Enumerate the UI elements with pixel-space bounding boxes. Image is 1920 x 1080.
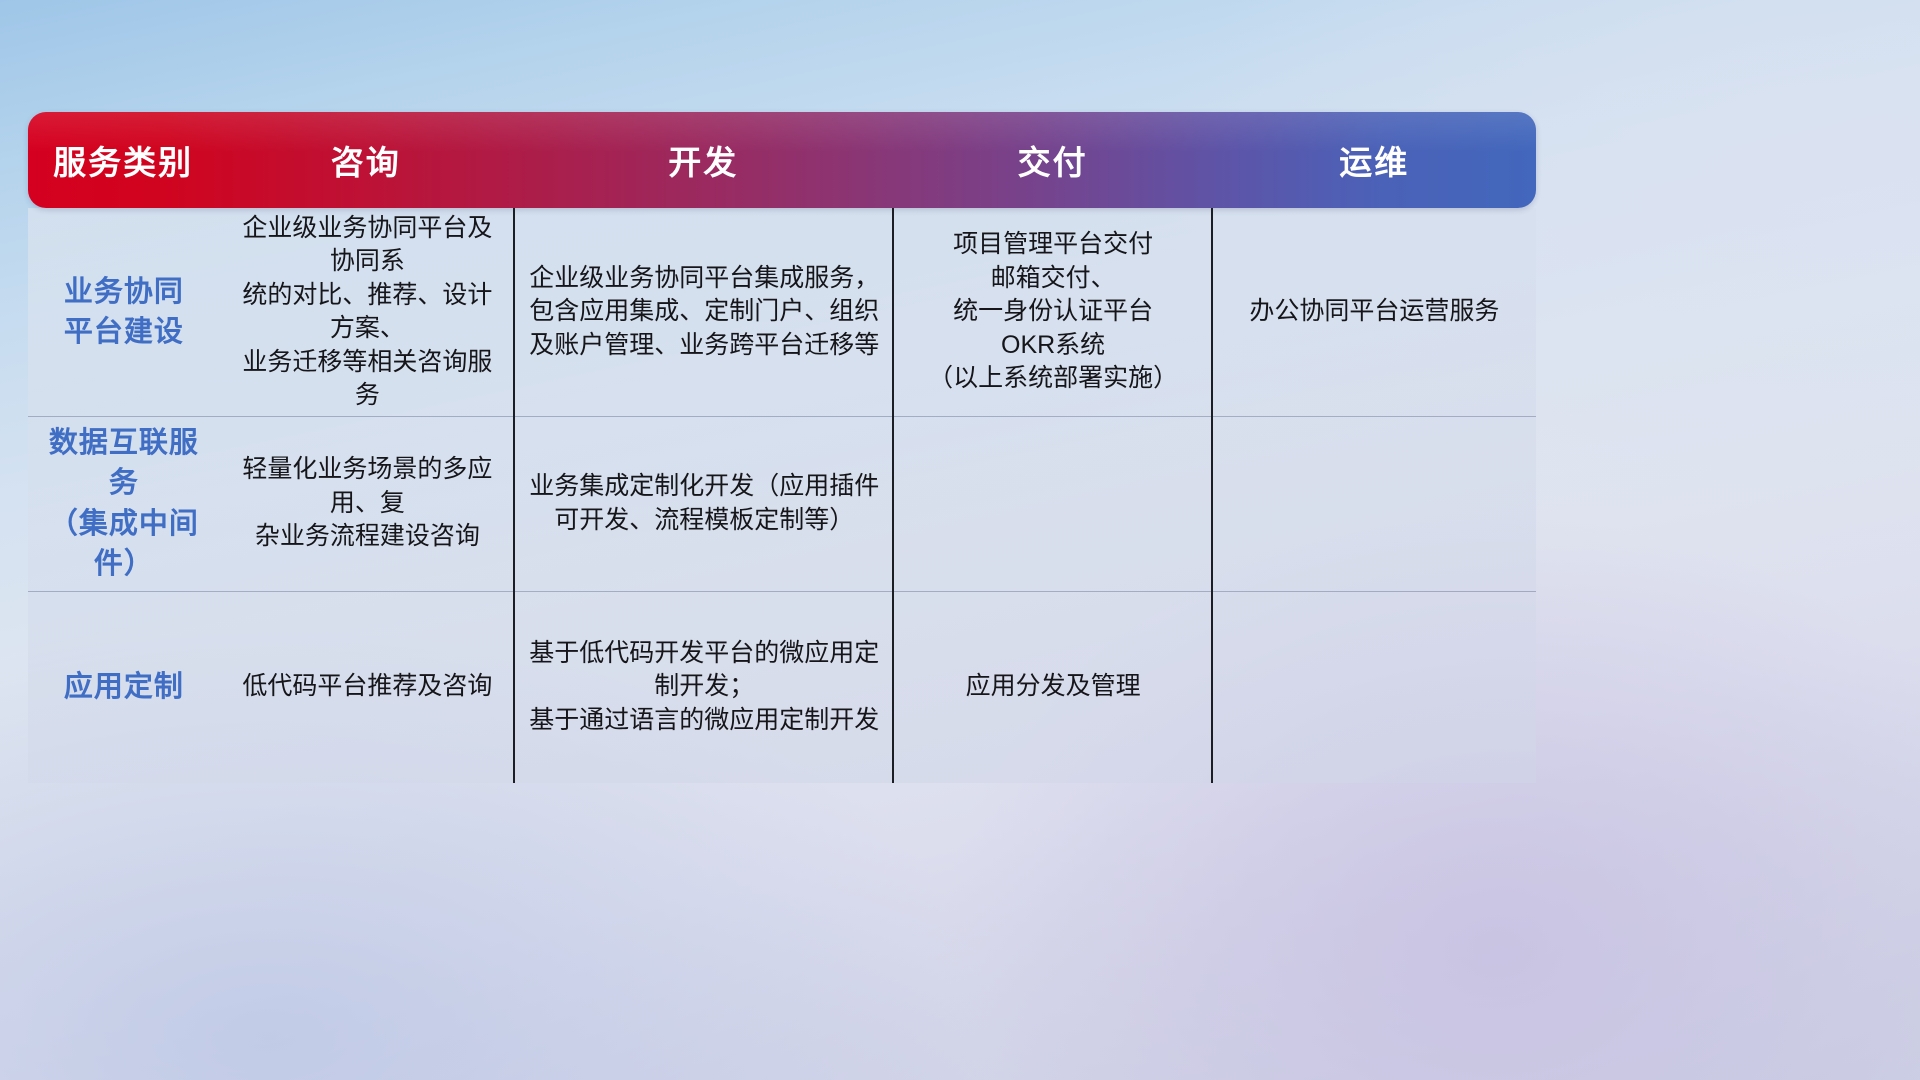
cell-text: 项目管理平台交付 邮箱交付、 统一身份认证平台 OKR系统 （以上系统部署实施） <box>928 228 1178 396</box>
cell-delivery <box>894 416 1213 591</box>
cell-operations: 办公协同平台运营服务 <box>1213 208 1536 416</box>
cell-delivery: 应用分发及管理 <box>894 591 1213 783</box>
row-category-label: 数据互联服务 （集成中间件） <box>40 423 208 583</box>
cell-text: 业务集成定制化开发（应用插件 可开发、流程模板定制等） <box>529 470 879 537</box>
column-header-category: 服务类别 <box>28 136 218 184</box>
row-category-cell: 应用定制 <box>28 591 220 783</box>
row-category-cell: 数据互联服务 （集成中间件） <box>28 416 220 591</box>
cell-development: 业务集成定制化开发（应用插件 可开发、流程模板定制等） <box>515 416 893 591</box>
cell-consulting: 低代码平台推荐及咨询 <box>220 591 515 783</box>
column-header-delivery: 交付 <box>893 136 1212 184</box>
column-header-development: 开发 <box>513 136 893 184</box>
row-category-cell: 业务协同 平台建设 <box>28 208 220 416</box>
cell-consulting: 轻量化业务场景的多应用、复 杂业务流程建设咨询 <box>220 416 515 591</box>
table-body: 业务协同 平台建设 企业级业务协同平台及协同系 统的对比、推荐、设计方案、 业务… <box>28 208 1536 783</box>
cell-text: 轻量化业务场景的多应用、复 杂业务流程建设咨询 <box>232 453 503 554</box>
table-header-row: 服务类别 咨询 开发 交付 运维 <box>28 112 1536 208</box>
cell-operations <box>1213 416 1536 591</box>
column-header-consulting: 咨询 <box>218 136 513 184</box>
table-row: 应用定制 低代码平台推荐及咨询 基于低代码开发平台的微应用定 制开发； 基于通过… <box>28 591 1536 783</box>
cell-text: 应用分发及管理 <box>966 670 1141 704</box>
service-matrix-table: 服务类别 咨询 开发 交付 运维 业务协同 平台建设 企业级业务协同平台及协同系… <box>28 112 1536 782</box>
cell-development: 基于低代码开发平台的微应用定 制开发； 基于通过语言的微应用定制开发 <box>515 591 893 783</box>
table-row: 数据互联服务 （集成中间件） 轻量化业务场景的多应用、复 杂业务流程建设咨询 业… <box>28 416 1536 591</box>
row-category-label: 应用定制 <box>64 667 184 707</box>
cell-text: 企业级业务协同平台集成服务， 包含应用集成、定制门户、组织 及账户管理、业务跨平… <box>529 262 879 363</box>
cell-text: 企业级业务协同平台及协同系 统的对比、推荐、设计方案、 业务迁移等相关咨询服务 <box>232 212 503 413</box>
cell-text: 办公协同平台运营服务 <box>1249 295 1499 329</box>
cell-development: 企业级业务协同平台集成服务， 包含应用集成、定制门户、组织 及账户管理、业务跨平… <box>515 208 893 416</box>
cell-delivery: 项目管理平台交付 邮箱交付、 统一身份认证平台 OKR系统 （以上系统部署实施） <box>894 208 1213 416</box>
table-row: 业务协同 平台建设 企业级业务协同平台及协同系 统的对比、推荐、设计方案、 业务… <box>28 208 1536 416</box>
cell-text: 低代码平台推荐及咨询 <box>242 670 492 704</box>
slide-canvas: 服务类别 咨询 开发 交付 运维 业务协同 平台建设 企业级业务协同平台及协同系… <box>0 0 1920 1080</box>
column-header-operations: 运维 <box>1212 136 1536 184</box>
cell-text: 基于低代码开发平台的微应用定 制开发； 基于通过语言的微应用定制开发 <box>529 637 879 738</box>
cell-operations <box>1213 591 1536 783</box>
row-category-label: 业务协同 平台建设 <box>64 272 184 352</box>
cell-consulting: 企业级业务协同平台及协同系 统的对比、推荐、设计方案、 业务迁移等相关咨询服务 <box>220 208 515 416</box>
